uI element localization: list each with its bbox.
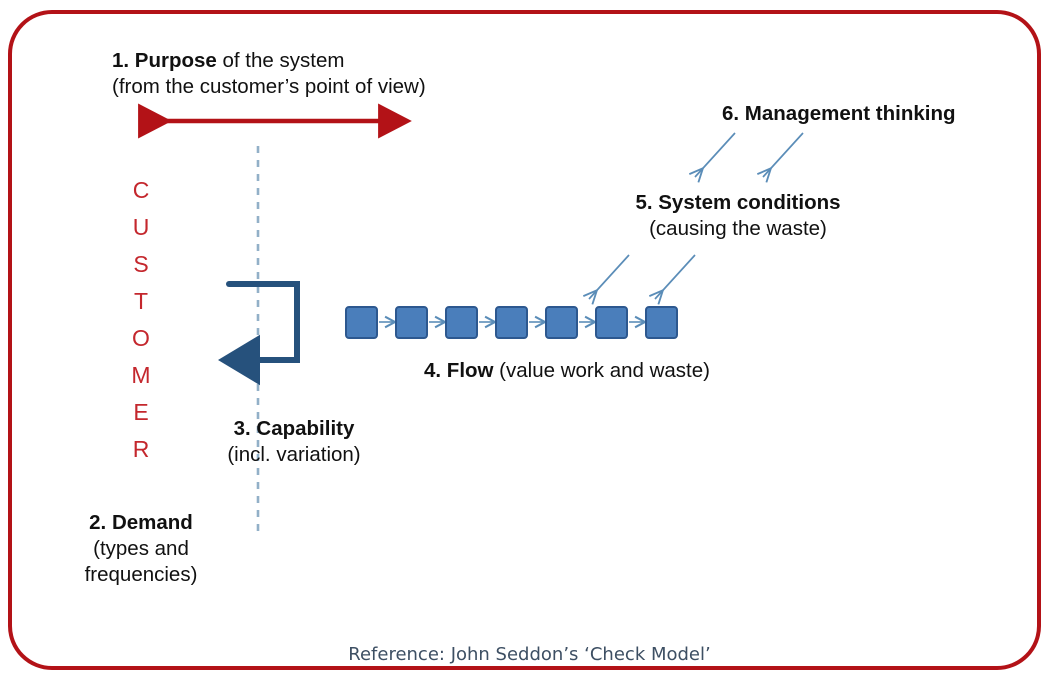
flow-box: [545, 306, 578, 339]
customer-letter: T: [126, 283, 156, 320]
demand-label: 2. Demand: [78, 510, 204, 536]
purpose-subtitle: (from the customer’s point of view): [112, 74, 426, 100]
system-conditions-label: 5. System conditions: [634, 190, 842, 216]
purpose-rest: of the system: [217, 49, 345, 72]
purpose-number: 1. Purpose: [112, 49, 217, 72]
demand-block: 2. Demand (types and frequencies): [78, 510, 204, 589]
purpose-label: 1. Purpose of the system (from the custo…: [112, 48, 426, 100]
customer-letter: M: [126, 357, 156, 394]
customer-letter: C: [126, 172, 156, 209]
capability-subtitle: (incl. variation): [218, 442, 370, 468]
demand-subtitle-line2: frequencies): [78, 562, 204, 588]
demand-subtitle-line1: (types and: [78, 536, 204, 562]
flow-box: [645, 306, 678, 339]
flow-label: 4. Flow (value work and waste): [424, 358, 710, 384]
customer-vertical-label: C U S T O M E R: [126, 172, 156, 468]
flow-box: [495, 306, 528, 339]
system-conditions-block: 5. System conditions (causing the waste): [634, 190, 842, 242]
customer-letter: O: [126, 320, 156, 357]
flow-box: [445, 306, 478, 339]
flow-rest: (value work and waste): [493, 359, 709, 382]
check-model-diagram: 1. Purpose of the system (from the custo…: [0, 0, 1059, 684]
flow-box: [595, 306, 628, 339]
flow-box: [345, 306, 378, 339]
reference-caption: Reference: John Seddon’s ‘Check Model’: [0, 644, 1059, 665]
system-conditions-subtitle: (causing the waste): [634, 216, 842, 242]
management-thinking-label: 6. Management thinking: [722, 101, 956, 127]
capability-block: 3. Capability (incl. variation): [218, 416, 370, 468]
customer-letter: U: [126, 209, 156, 246]
flow-number: 4. Flow: [424, 359, 493, 382]
customer-letter: S: [126, 246, 156, 283]
customer-letter: E: [126, 394, 156, 431]
flow-box: [395, 306, 428, 339]
capability-label: 3. Capability: [218, 416, 370, 442]
customer-letter: R: [126, 431, 156, 468]
